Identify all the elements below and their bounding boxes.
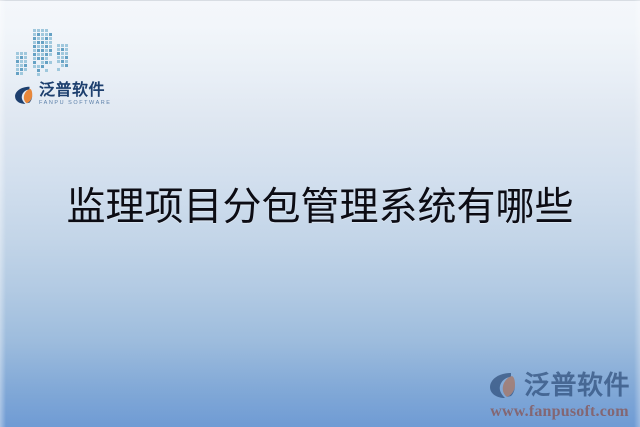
brand-block: 泛普软件 FANPU SOFTWARE: [12, 26, 182, 107]
pixel-skyline-icon: [14, 26, 76, 80]
watermark-name-cn: 泛普软件: [524, 372, 630, 398]
fanpu-logo-lockup: 泛普软件 FANPU SOFTWARE: [13, 83, 182, 107]
promo-banner: 泛普软件 FANPU SOFTWARE 监理项目分包管理系统有哪些 泛普软件 w…: [0, 0, 640, 427]
page-title: 监理项目分包管理系统有哪些: [0, 186, 640, 230]
watermark: 泛普软件 www.fanpusoft.com: [487, 369, 632, 421]
watermark-logo-lockup: 泛普软件: [487, 369, 632, 401]
fanpu-swoosh-logo-icon: [487, 369, 519, 401]
logo-name-en: FANPU SOFTWARE: [39, 101, 112, 107]
top-divider: [0, 0, 640, 1]
watermark-url: www.fanpusoft.com: [487, 403, 632, 421]
logo-name-cn: 泛普软件: [39, 83, 112, 99]
logo-wordmark: 泛普软件 FANPU SOFTWARE: [39, 83, 112, 107]
fanpu-swoosh-logo-icon: [13, 84, 35, 106]
